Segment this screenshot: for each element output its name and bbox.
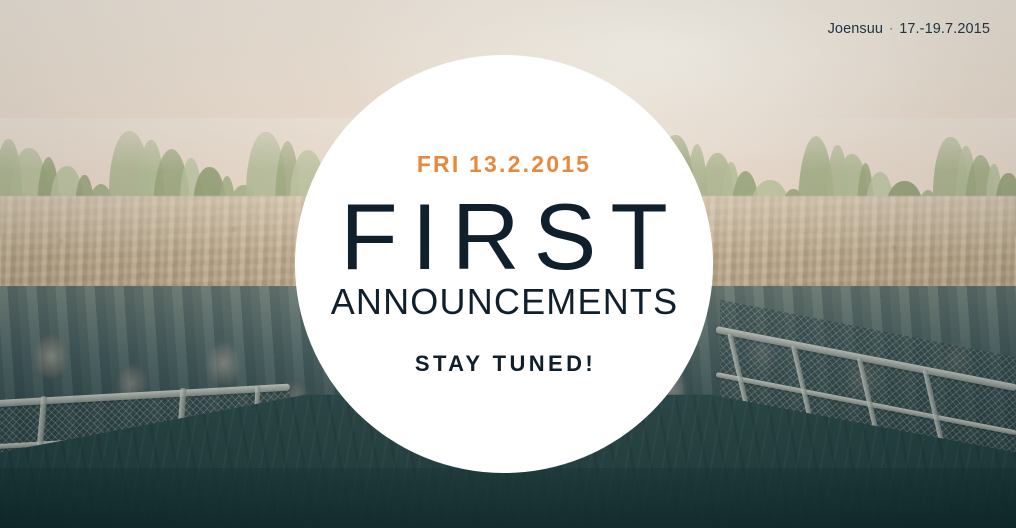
festival-dates: 17.-19.7.2015 — [899, 21, 990, 37]
separator-dot-icon: · — [889, 22, 893, 34]
stage-front-edge — [0, 468, 1016, 528]
teaser-stay-tuned: STAY TUNED! — [412, 351, 596, 377]
festival-location: Joensuu — [828, 21, 884, 37]
festival-announcement-banner: Joensuu · 17.-19.7.2015 FRI 13.2.2015 FI… — [0, 0, 1016, 528]
festival-location-dates: Joensuu · 17.-19.7.2015 — [828, 21, 990, 37]
announcement-circle-badge: FRI 13.2.2015 FIRST ANNOUNCEMENTS STAY T… — [295, 55, 713, 473]
announcement-date: FRI 13.2.2015 — [417, 151, 591, 178]
headline-first: FIRST — [326, 194, 682, 280]
headline-announcements: ANNOUNCEMENTS — [330, 283, 679, 321]
